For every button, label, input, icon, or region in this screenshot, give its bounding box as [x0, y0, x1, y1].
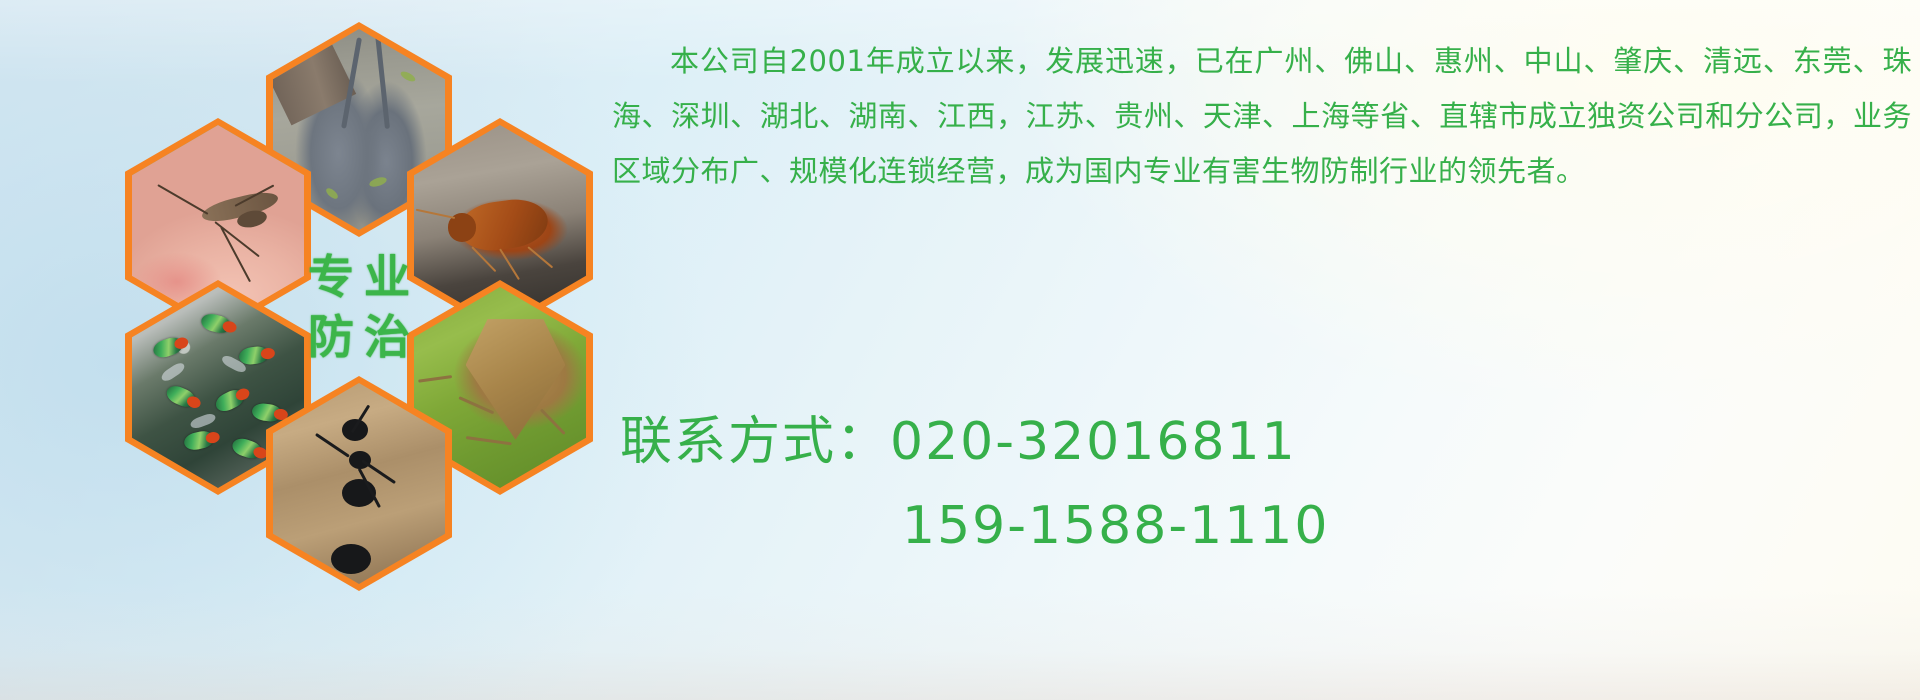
mosquito-leg-2 — [221, 226, 252, 282]
badge-line-1: 专业 — [298, 254, 420, 300]
badge-line-2: 防治 — [298, 314, 420, 360]
company-intro-paragraph: 本公司自2001年成立以来，发展迅速，已在广州、佛山、惠州、中山、肇庆、清远、东… — [612, 34, 1912, 199]
mosquito-leg-3 — [157, 185, 208, 216]
fly-2 — [199, 312, 232, 336]
company-intro-block: 本公司自2001年成立以来，发展迅速，已在广州、佛山、惠州、中山、肇庆、清远、东… — [612, 34, 1912, 199]
cockroach-antenna — [416, 209, 456, 219]
fly-5 — [212, 386, 246, 414]
fly-8 — [230, 436, 264, 461]
ant-second — [331, 544, 371, 574]
fly-4 — [164, 382, 198, 410]
fly-1 — [151, 335, 185, 360]
honeycomb-photo-collage: 专业 防治 — [0, 0, 620, 700]
fly-6 — [251, 402, 283, 423]
cockroach-leg-3 — [527, 246, 553, 268]
ant-thorax — [349, 451, 371, 469]
cockroach-leg-2 — [499, 248, 520, 280]
contact-line-mobile[interactable]: 159-1588-1110 — [612, 484, 1920, 568]
leaf-2 — [369, 175, 389, 188]
stinkbug-antenna — [465, 436, 511, 445]
rat-tail-right — [375, 33, 390, 129]
fly-7 — [182, 429, 215, 452]
leaf-3 — [324, 186, 339, 200]
fly-wing-1 — [159, 361, 186, 384]
contact-line-primary[interactable]: 联系方式：020-32016811 — [612, 400, 1920, 484]
leaf-1 — [400, 70, 417, 84]
fly-wing-3 — [190, 411, 218, 429]
stinkbug-leg-3 — [540, 408, 566, 435]
contact-block: 联系方式：020-32016811 159-1588-1110 — [612, 400, 1920, 568]
